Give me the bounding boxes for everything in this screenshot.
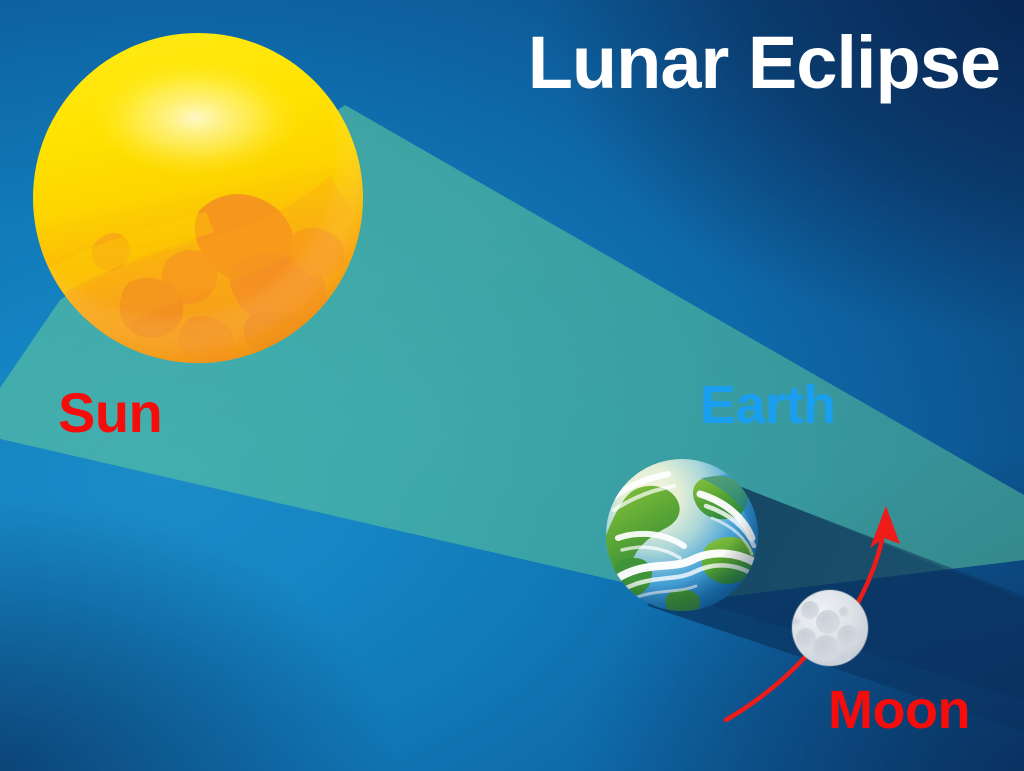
label-earth: Earth <box>700 378 836 432</box>
label-moon: Moon <box>828 683 970 737</box>
lunar-eclipse-diagram: Lunar Eclipse Sun Earth Moon <box>0 0 1024 771</box>
label-sun: Sun <box>58 385 162 441</box>
page-title: Lunar Eclipse <box>528 26 1000 100</box>
sun-gloss-highlight <box>91 60 301 176</box>
